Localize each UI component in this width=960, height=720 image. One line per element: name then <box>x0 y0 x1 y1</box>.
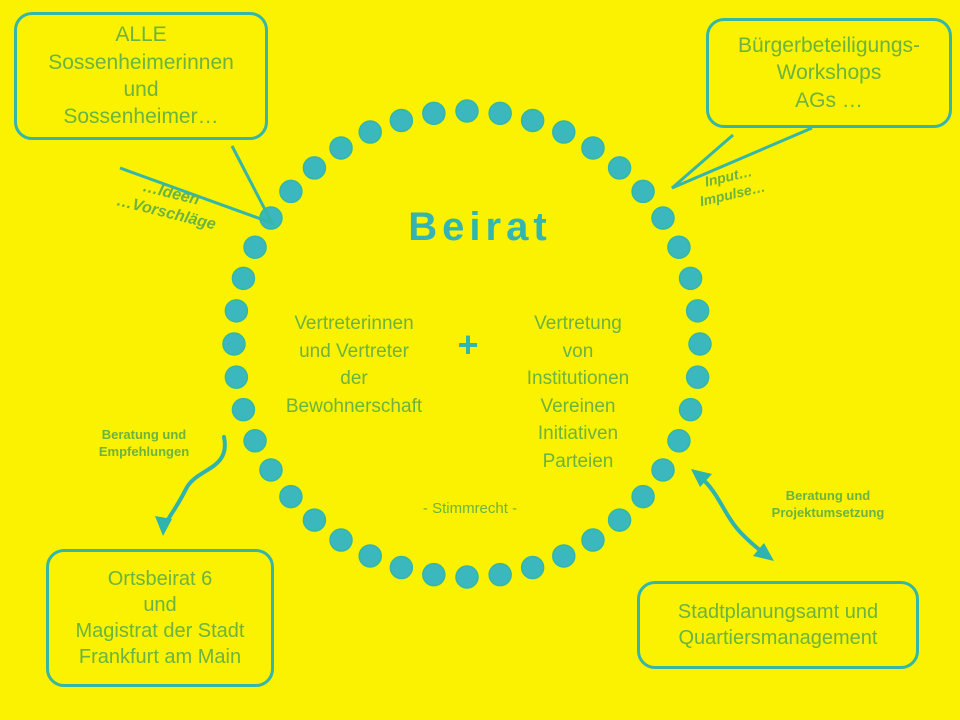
ring-dot <box>609 509 631 531</box>
ring-dot <box>689 333 711 355</box>
bubble-ortsbeirat: Ortsbeirat 6 und Magistrat der Stadt Fra… <box>46 549 274 687</box>
ring-dot <box>489 564 511 586</box>
bubble-buergerbeteiligung: Bürgerbeteiligungs- Workshops AGs … <box>706 18 952 128</box>
ring-dot <box>359 545 381 567</box>
ring-dot <box>303 509 325 531</box>
center-right-column: Vertretung von Institutionen Vereinen In… <box>492 310 664 475</box>
ring-dot <box>330 529 352 551</box>
center-left-line-3: der <box>268 365 440 393</box>
ring-dot <box>582 529 604 551</box>
ring-dot <box>456 566 478 588</box>
ring-dot <box>232 267 254 289</box>
center-left-column: Vertreterinnen und Vertreter der Bewohne… <box>268 310 440 420</box>
bubble-workshops-line-3: AGs … <box>795 87 863 114</box>
center-right-line-4: Vereinen <box>492 393 664 421</box>
diagram-canvas: Beirat Vertreterinnen und Vertreter der … <box>0 0 960 720</box>
ring-dot <box>225 300 247 322</box>
label-input-impulse: Input… Impulse… <box>694 161 767 211</box>
ring-dot <box>489 102 511 124</box>
center-right-line-5: Initiativen <box>492 420 664 448</box>
ring-dot <box>609 157 631 179</box>
ring-dot <box>423 564 445 586</box>
ring-dot <box>390 557 412 579</box>
ring-dot <box>522 109 544 131</box>
label-beratung-links-line-1: Beratung und <box>80 427 208 444</box>
bubble-alle-line-4: Sossenheimer… <box>63 103 218 130</box>
bubble-stadtplanungsamt: Stadtplanungsamt und Quartiersmanagement <box>637 581 919 669</box>
bubble-alle-line-1: ALLE <box>115 21 166 48</box>
bubble-stadtplanung-line-1: Stadtplanungsamt und <box>678 599 878 625</box>
ring-dot <box>632 486 654 508</box>
ring-dot <box>390 109 412 131</box>
center-right-line-6: Parteien <box>492 448 664 476</box>
ring-dot <box>680 267 702 289</box>
ring-dot <box>303 157 325 179</box>
ring-dot <box>223 333 245 355</box>
center-right-line-2: von <box>492 338 664 366</box>
label-beratung-empfehlungen: Beratung und Empfehlungen <box>80 427 208 460</box>
ring-dot <box>280 180 302 202</box>
bubble-alle-line-2: Sossenheimerinnen <box>48 49 234 76</box>
ring-dot <box>225 366 247 388</box>
center-left-line-4: Bewohnerschaft <box>268 393 440 421</box>
ring-dot <box>553 545 575 567</box>
ring-dot <box>359 121 381 143</box>
ring-dot <box>244 430 266 452</box>
ring-dot <box>632 180 654 202</box>
ring-dot <box>522 557 544 579</box>
label-beratung-links-line-2: Empfehlungen <box>80 444 208 461</box>
ring-dot <box>687 366 709 388</box>
bubble-workshops-line-1: Bürgerbeteiligungs- <box>738 32 920 59</box>
bubble-stadtplanung-line-2: Quartiersmanagement <box>679 625 878 651</box>
ring-dot <box>330 137 352 159</box>
center-left-line-1: Vertreterinnen <box>268 310 440 338</box>
bubble-alle-sossenheimer: ALLE Sossenheimerinnen und Sossenheimer… <box>14 12 268 140</box>
bubble-alle-line-3: und <box>123 76 158 103</box>
ring-dot <box>582 137 604 159</box>
bubble-ortsbeirat-line-3: Magistrat der Stadt <box>76 618 245 644</box>
bubble-workshops-line-2: Workshops <box>777 59 882 86</box>
ring-dot <box>260 459 282 481</box>
ring-dot <box>232 399 254 421</box>
ring-dot <box>553 121 575 143</box>
ring-dot <box>680 399 702 421</box>
stimmrecht-note: - Stimmrecht - <box>380 500 560 517</box>
center-right-line-1: Vertretung <box>492 310 664 338</box>
label-beratung-rechts-line-1: Beratung und <box>746 488 910 505</box>
bubble-ortsbeirat-line-1: Ortsbeirat 6 <box>108 566 212 592</box>
center-left-line-2: und Vertreter <box>268 338 440 366</box>
label-beratung-rechts-line-2: Projektumsetzung <box>746 505 910 522</box>
bubble-ortsbeirat-line-4: Frankfurt am Main <box>79 644 241 670</box>
ring-dot <box>687 300 709 322</box>
ring-dot <box>423 102 445 124</box>
ring-dot <box>280 486 302 508</box>
ring-dot <box>456 100 478 122</box>
center-right-line-3: Institutionen <box>492 365 664 393</box>
label-beratung-projektumsetzung: Beratung und Projektumsetzung <box>746 488 910 521</box>
ring-dot <box>668 430 690 452</box>
plus-icon: + <box>448 327 488 363</box>
bubble-ortsbeirat-line-2: und <box>143 592 176 618</box>
